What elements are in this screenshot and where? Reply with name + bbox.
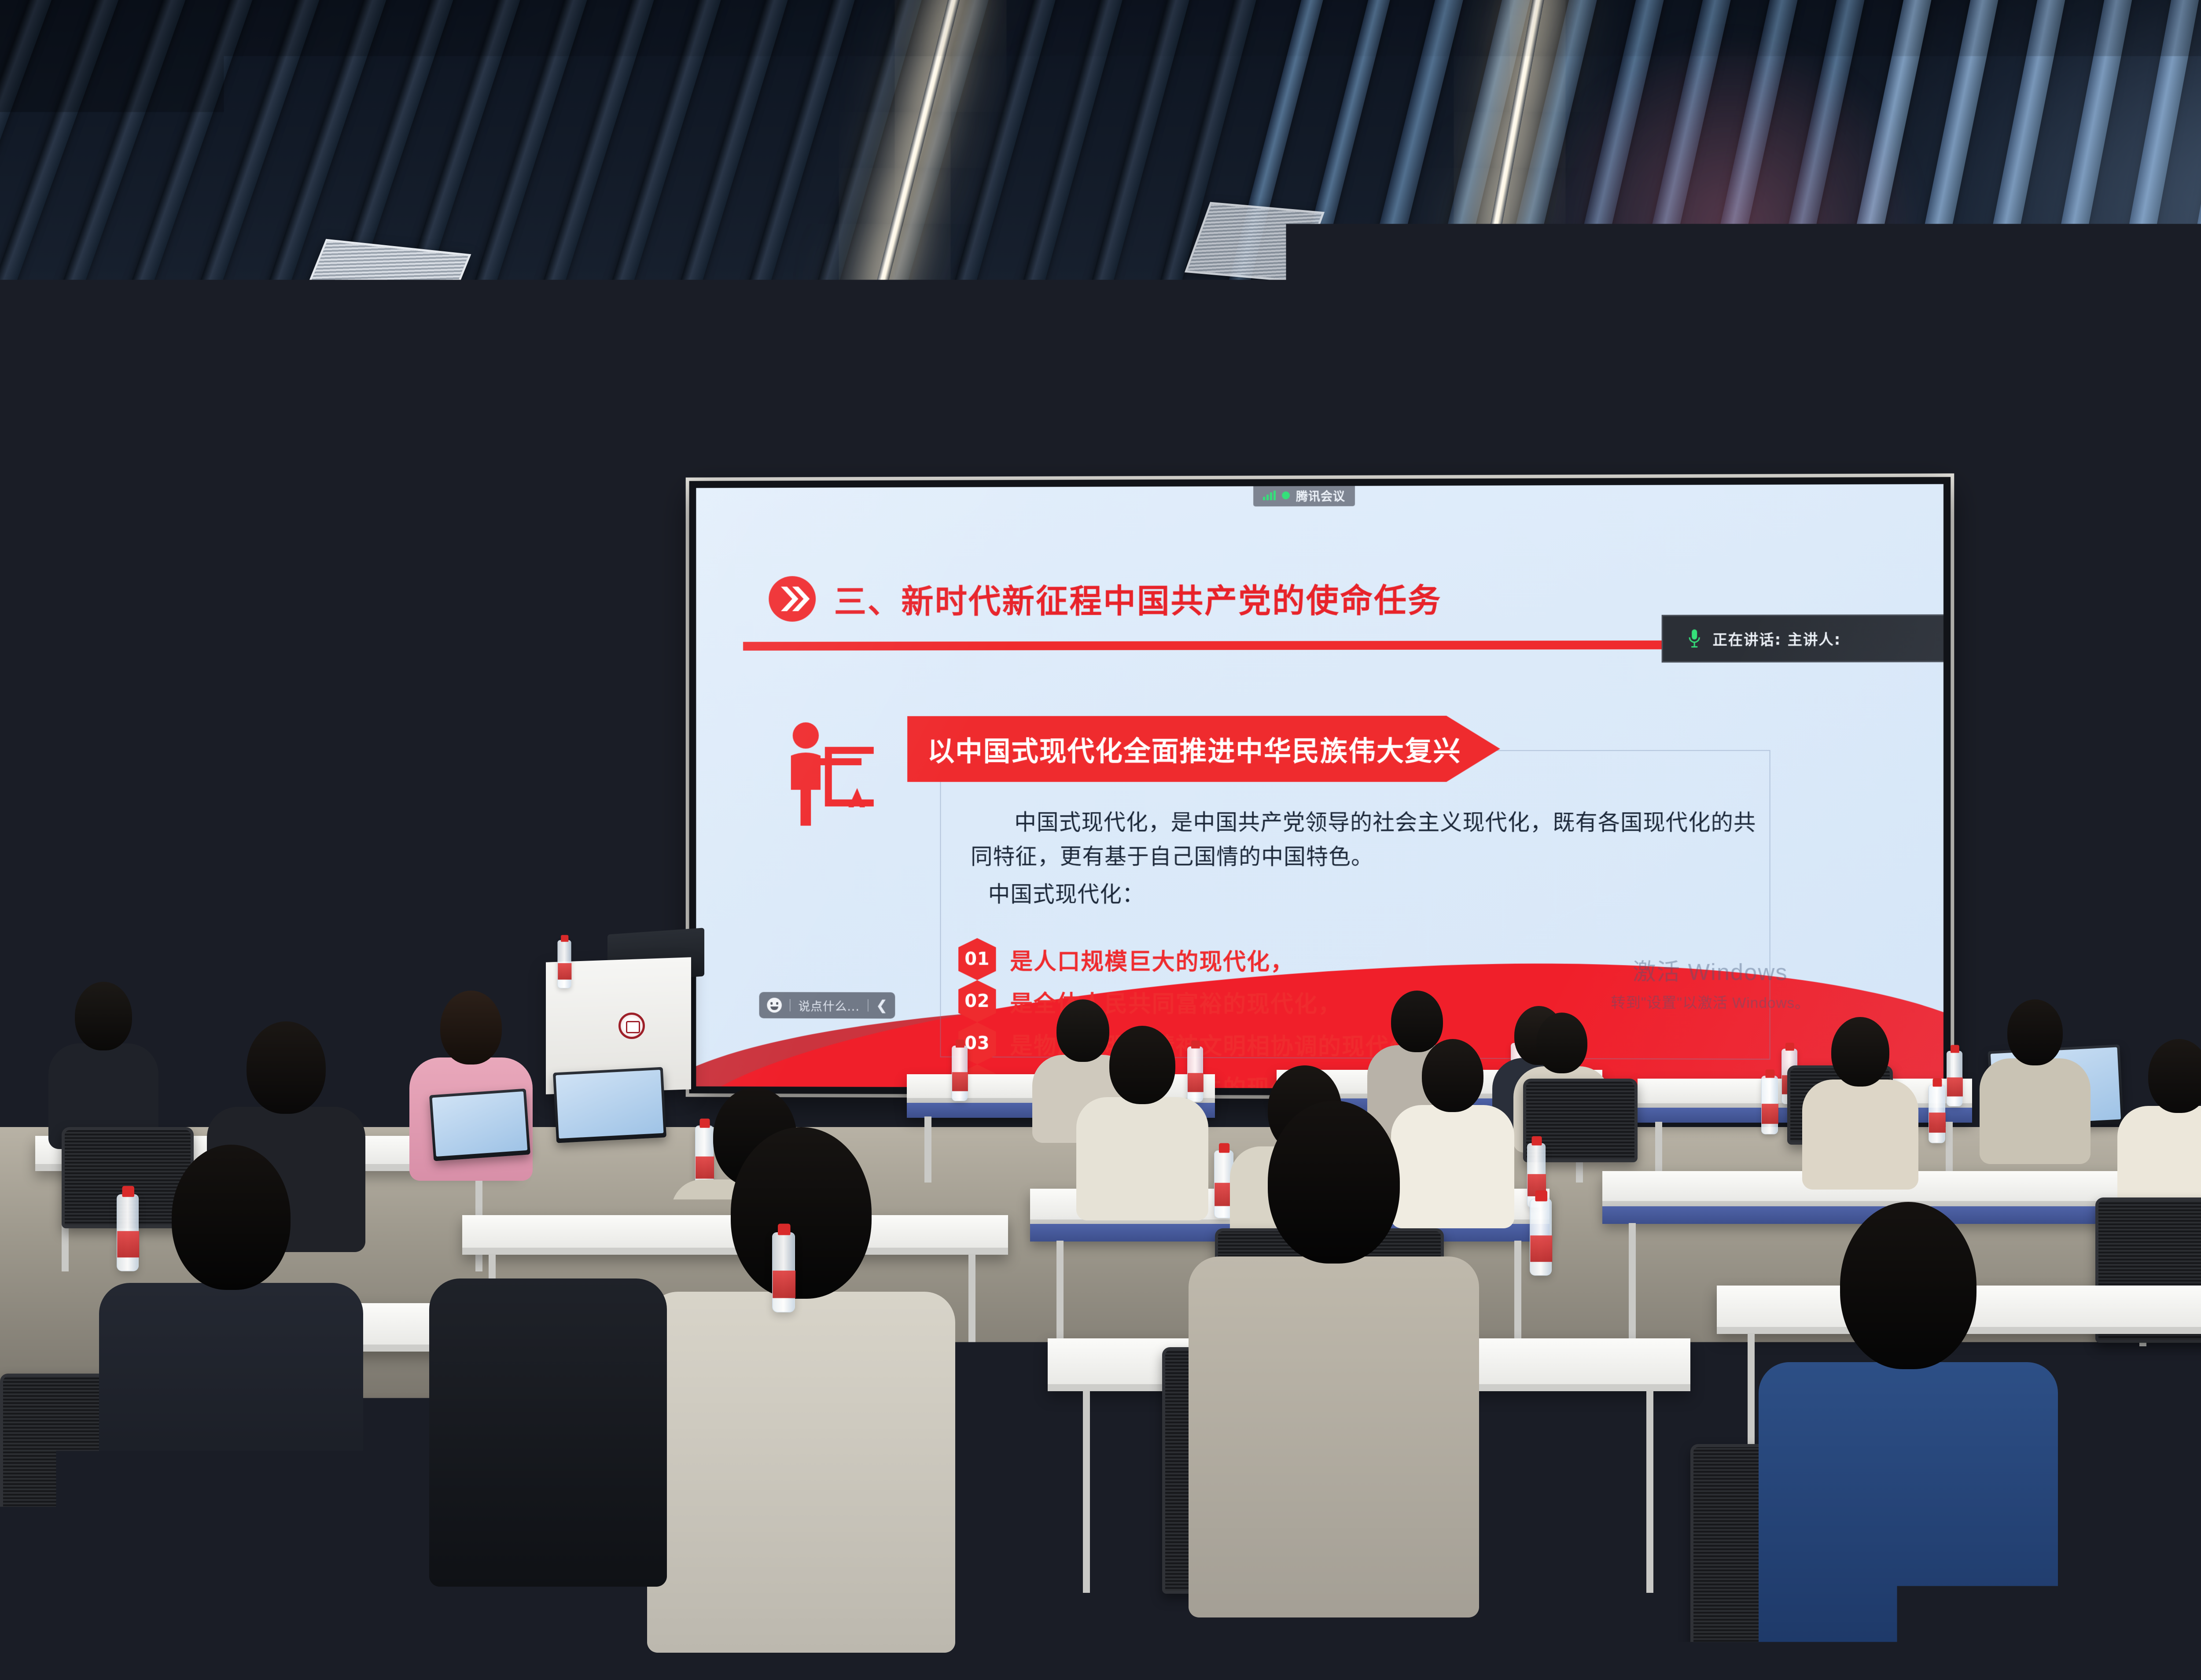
bird-silhouette-icon	[63, 766, 89, 781]
water-bottle-icon	[557, 940, 571, 988]
ceiling-spotlight	[387, 326, 414, 346]
ceiling-baffle	[559, 0, 835, 519]
desk-leg	[1083, 1390, 1090, 1593]
desk-leg	[968, 1254, 975, 1386]
slide-title: 三、新时代新征程中国共产党的使命任务	[834, 574, 1442, 623]
banner-label: 以中国式现代化全面推进中华民族伟大复兴	[928, 716, 1461, 782]
person-head	[1268, 1101, 1400, 1264]
water-bottle-icon	[1530, 1199, 1552, 1276]
person-torso	[1189, 1256, 1479, 1617]
windows-activation-watermark: 激活 Windows 转到"设置"以激活 Windows。	[1611, 953, 1810, 1012]
person-at-board-icon	[783, 720, 877, 829]
air-vent	[291, 239, 471, 343]
person-torso	[1076, 1097, 1208, 1220]
list-item-text: 是全体人民共同富裕的现代化，	[1010, 985, 1342, 1019]
lecture-hall-screenshot: 因为有你所以精彩 IT'S WONDERFUL BECAUSE OF YOU 新…	[0, 0, 2201, 1680]
person-torso	[1759, 1362, 2058, 1680]
person-head	[172, 1145, 291, 1290]
person-torso	[1802, 1079, 1918, 1190]
tencent-meeting-label: 腾讯会议	[1296, 486, 1345, 504]
ceiling	[0, 0, 2201, 519]
person-head	[731, 1127, 872, 1299]
person-torso	[99, 1283, 363, 1617]
divider	[868, 999, 869, 1012]
meeting-chat-bar[interactable]: 说点什么... ❮	[759, 992, 895, 1018]
person-head	[2007, 999, 2063, 1065]
person-head	[247, 1021, 326, 1114]
slide-lead-in: 中国式现代化：	[971, 877, 1759, 913]
watermark-subtitle: 转到"设置"以激活 Windows。	[1611, 991, 1810, 1012]
person-torso	[647, 1292, 955, 1653]
bird-silhouette-icon	[98, 797, 121, 812]
microphone-icon	[1688, 629, 1701, 649]
desk-leg	[1646, 1390, 1653, 1593]
person-head	[1536, 1013, 1587, 1073]
water-bottle-icon	[1947, 1051, 1962, 1106]
person-head	[1831, 1017, 1889, 1087]
chevron-left-icon[interactable]: ❮	[876, 998, 887, 1013]
person-head	[1840, 1202, 1976, 1369]
tencent-meeting-pill[interactable]: 腾讯会议	[1253, 484, 1355, 507]
ceiling-spotlight	[2197, 317, 2201, 337]
water-bottle-icon	[1929, 1085, 1945, 1143]
speaking-status-badge: 正在讲话: 主讲人:	[1662, 614, 1943, 663]
person-head	[1422, 1039, 1483, 1112]
person-torso	[1391, 1105, 1514, 1228]
person-torso	[1980, 1058, 2091, 1164]
person-head	[1056, 999, 1109, 1062]
university-emblem-seal	[618, 1013, 645, 1039]
person-head	[1109, 1026, 1175, 1104]
ceiling-spotlight	[386, 354, 407, 371]
water-bottle-icon	[772, 1232, 795, 1312]
smiley-face-icon[interactable]	[767, 998, 782, 1013]
presenter-glasses	[527, 869, 569, 879]
slide-paragraph: 中国式现代化，是中国共产党领导的社会主义现代化，既有各国现代化的共同特征，更有基…	[971, 806, 1759, 874]
water-bottle-icon	[952, 1046, 968, 1101]
slide-title-row: 三、新时代新征程中国共产党的使命任务	[768, 573, 1442, 623]
water-bottle-icon	[117, 1194, 139, 1271]
chat-input[interactable]: 说点什么...	[799, 997, 860, 1014]
person-head	[1391, 991, 1443, 1052]
double-chevron-right-icon	[768, 575, 817, 624]
person-head	[75, 982, 132, 1050]
presentation-display[interactable]: 腾讯会议 三、新时代新征程中国共产党的使命任务	[689, 477, 1951, 1097]
desk-leg	[1629, 1223, 1636, 1346]
slide-banner: 以中国式现代化全面推进中华民族伟大复兴	[907, 716, 1500, 782]
water-bottle-icon	[1761, 1076, 1778, 1135]
watermark-title: 激活 Windows	[1611, 953, 1810, 987]
list-item-text: 是人口规模巨大的现代化，	[1010, 943, 1294, 976]
person-head	[440, 991, 502, 1065]
bird-silhouette-icon	[442, 777, 466, 792]
list-number-badge: 02	[958, 980, 996, 1022]
laptop-icon	[429, 1089, 530, 1161]
laptop-icon	[553, 1067, 666, 1143]
list-number-badge: 01	[958, 938, 996, 980]
slide-surface: 腾讯会议 三、新时代新征程中国共产党的使命任务	[696, 484, 1943, 1091]
poster-frame	[2087, 758, 2201, 857]
divider	[790, 999, 791, 1011]
person-torso	[429, 1278, 667, 1587]
water-bottle-icon	[1187, 1046, 1203, 1102]
speaking-status-label: 正在讲话: 主讲人:	[1713, 628, 1841, 649]
green-status-dot-icon	[1282, 491, 1290, 499]
desk-leg	[924, 1116, 931, 1183]
signal-bars-icon	[1263, 490, 1276, 500]
person-head	[493, 1153, 603, 1286]
airplane-silhouette-icon	[90, 616, 231, 674]
